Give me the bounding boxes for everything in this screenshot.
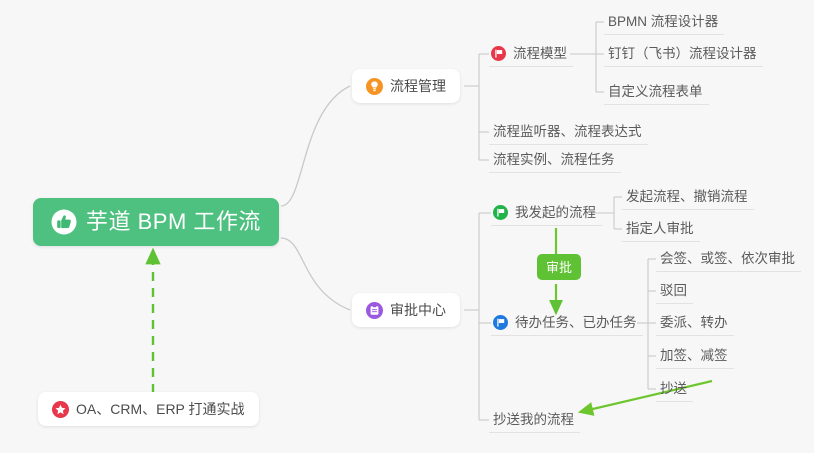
flag-icon	[493, 315, 508, 330]
node-label: 钉钉（飞书）流程设计器	[608, 47, 757, 61]
node-reject[interactable]: 驳回	[656, 278, 693, 304]
node-my-initiated[interactable]: 我发起的流程	[491, 200, 602, 226]
star-icon	[52, 401, 69, 418]
node-process-model[interactable]: 流程模型	[489, 41, 573, 67]
node-label: BPMN 流程设计器	[608, 15, 718, 29]
node-start-cancel[interactable]: 发起流程、撤销流程	[622, 184, 754, 210]
node-label: 抄送	[660, 382, 687, 396]
mindmap-canvas: 芋道 BPM 工作流 流程管理 流程模型 BPMN 流程设计器 钉钉（飞书）流程	[0, 0, 814, 453]
clipboard-icon	[366, 302, 383, 319]
node-label: 抄送我的流程	[493, 413, 574, 427]
node-label: 流程监听器、流程表达式	[493, 125, 642, 139]
thumbs-up-icon	[51, 209, 77, 235]
node-listener-expression[interactable]: 流程监听器、流程表达式	[489, 119, 648, 145]
branch-approval-center[interactable]: 审批中心	[352, 293, 460, 327]
node-label: 自定义流程表单	[608, 85, 703, 99]
node-label: 会签、或签、依次审批	[660, 252, 795, 266]
note-integration[interactable]: OA、CRM、ERP 打通实战	[38, 392, 259, 426]
node-countersign[interactable]: 会签、或签、依次审批	[656, 246, 801, 272]
edge-root-to-approval-center	[281, 238, 350, 310]
node-dingtalk-feishu-designer[interactable]: 钉钉（飞书）流程设计器	[604, 41, 763, 67]
node-label: 待办任务、已办任务	[515, 316, 637, 330]
note-label: OA、CRM、ERP 打通实战	[76, 402, 245, 416]
node-todo-done-tasks[interactable]: 待办任务、已办任务	[491, 310, 643, 336]
node-instance-task[interactable]: 流程实例、流程任务	[489, 147, 621, 173]
root-label: 芋道 BPM 工作流	[86, 211, 261, 233]
node-cc[interactable]: 抄送	[656, 376, 693, 402]
node-add-remove-sign[interactable]: 加签、减签	[656, 343, 734, 369]
root-node[interactable]: 芋道 BPM 工作流	[33, 198, 279, 246]
node-bpmn-designer[interactable]: BPMN 流程设计器	[604, 9, 724, 35]
approval-tag[interactable]: 审批	[537, 254, 581, 280]
branch-label: 审批中心	[390, 303, 446, 317]
edge-root-to-process-management	[281, 86, 350, 206]
node-label: 加签、减签	[660, 349, 728, 363]
branch-process-management[interactable]: 流程管理	[352, 69, 460, 103]
node-label: 指定人审批	[626, 222, 694, 236]
node-label: 流程实例、流程任务	[493, 153, 615, 167]
node-label: 发起流程、撤销流程	[626, 190, 748, 204]
node-delegate-transfer[interactable]: 委派、转办	[656, 310, 734, 336]
flag-icon	[493, 205, 508, 220]
node-custom-process-form[interactable]: 自定义流程表单	[604, 79, 709, 105]
node-label: 流程模型	[513, 47, 567, 61]
branch-label: 流程管理	[390, 79, 446, 93]
flag-icon	[491, 46, 506, 61]
tag-label: 审批	[546, 261, 572, 274]
node-assignee-approval[interactable]: 指定人审批	[622, 216, 700, 242]
node-label: 我发起的流程	[515, 206, 596, 220]
node-label: 委派、转办	[660, 316, 728, 330]
node-label: 驳回	[660, 284, 687, 298]
lightbulb-icon	[366, 78, 383, 95]
node-cc-to-me[interactable]: 抄送我的流程	[489, 407, 580, 433]
